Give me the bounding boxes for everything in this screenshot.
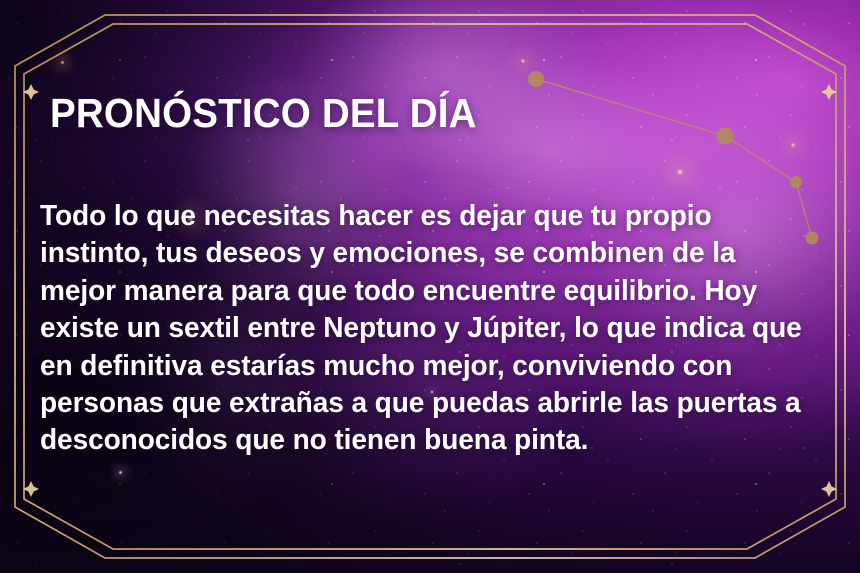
card-content: PRONÓSTICO DEL DÍA Todo lo que necesitas… bbox=[0, 0, 860, 573]
forecast-text: Todo lo que necesitas hacer es dejar que… bbox=[40, 198, 810, 460]
horoscope-card: PRONÓSTICO DEL DÍA Todo lo que necesitas… bbox=[0, 0, 860, 573]
page-title: PRONÓSTICO DEL DÍA bbox=[50, 90, 477, 136]
